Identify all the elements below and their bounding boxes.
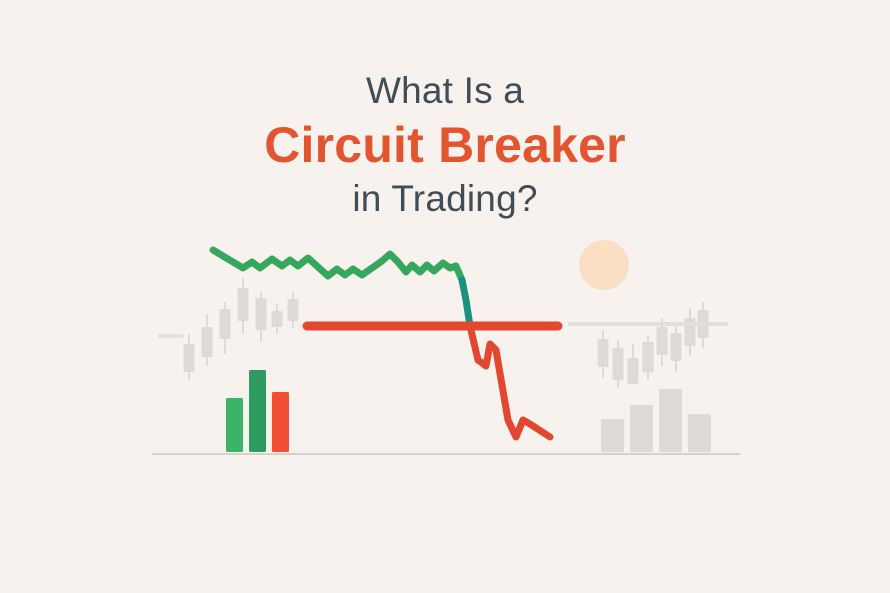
candle-body-6 (272, 311, 283, 327)
candle-body-6 (671, 333, 682, 361)
title-line-one: What Is a (0, 68, 890, 114)
candle-body-2 (613, 348, 624, 380)
bar-bar-2 (249, 370, 266, 452)
candle-body-7 (288, 299, 299, 321)
bar-ghost-bar-2 (630, 405, 653, 452)
candle-body-3 (628, 358, 639, 384)
bar-ghost-bar-3 (659, 389, 682, 452)
candlesticks-right-cluster (598, 302, 709, 388)
candlesticks-left-cluster (184, 278, 299, 380)
bar-bar-3 (272, 392, 289, 452)
crash-line-series (470, 326, 550, 437)
candle-body-5 (256, 298, 267, 330)
bar-ghost-bar-1 (601, 419, 624, 452)
uptrend-line-series (213, 250, 462, 280)
title-line-two-accent: Circuit Breaker (0, 114, 890, 176)
bar-bar-1 (226, 398, 243, 452)
sun-circle-icon (579, 240, 629, 290)
candle-body-1 (598, 339, 609, 367)
halt-transition-line-series (462, 280, 470, 326)
volume-bars-background (601, 389, 711, 452)
title-line-three: in Trading? (0, 176, 890, 222)
candle-body-5 (657, 327, 668, 355)
candle-body-4 (643, 342, 654, 372)
bar-ghost-bar-4 (688, 414, 711, 452)
candle-body-2 (202, 327, 213, 357)
poster-canvas: What Is a Circuit Breaker in Trading? (0, 0, 890, 593)
volume-bars-foreground (226, 370, 289, 452)
candle-body-3 (220, 309, 231, 339)
candle-body-4 (238, 288, 249, 321)
candle-body-1 (184, 344, 195, 372)
page-title: What Is a Circuit Breaker in Trading? (0, 68, 890, 222)
